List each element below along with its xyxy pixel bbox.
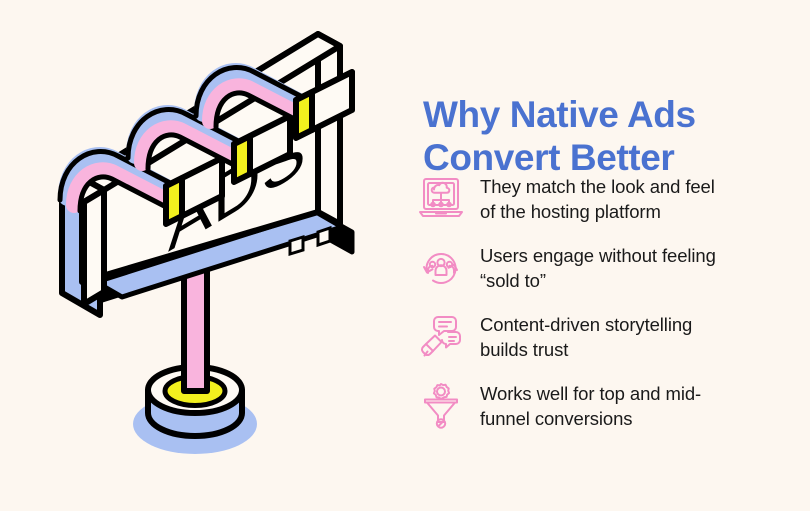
list-item-line-1: Content-driven storytelling <box>480 314 692 335</box>
list-item-line-2: of the hosting platform <box>480 201 661 222</box>
list-item-line-1: They match the look and feel <box>480 176 715 197</box>
left-frame-inner-face <box>84 190 104 304</box>
benefits-list: They match the look and feel of the host… <box>418 170 810 446</box>
laptop-cloud-network-icon <box>418 174 464 222</box>
list-item-line-2: builds trust <box>480 339 568 360</box>
list-item-line-2: funnel conversions <box>480 408 632 429</box>
list-item-line-2: “sold to” <box>480 270 546 291</box>
billboard-illustration: ADS <box>0 0 400 506</box>
list-item-line-1: Users engage without feeling <box>480 245 716 266</box>
list-item-text: They match the look and feel of the host… <box>480 170 810 224</box>
list-item: Users engage without feeling “sold to” <box>418 239 810 293</box>
billboard-svg: ADS <box>0 0 400 506</box>
list-item-text: Works well for top and mid- funnel conve… <box>480 377 810 431</box>
list-item-text: Users engage without feeling “sold to” <box>480 239 810 293</box>
users-engagement-cycle-icon <box>418 243 464 291</box>
list-item-line-1: Works well for top and mid- <box>480 383 701 404</box>
list-item: Works well for top and mid- funnel conve… <box>418 377 810 431</box>
infographic-poster: ADS <box>0 0 810 506</box>
funnel-gear-icon <box>418 381 464 429</box>
list-item-text: Content-driven storytelling builds trust <box>480 308 810 362</box>
rail-notch-1 <box>290 237 303 254</box>
list-item: They match the look and feel of the host… <box>418 170 810 224</box>
page-title: Why Native Ads Convert Better <box>423 93 803 179</box>
board-right-depth <box>318 34 340 224</box>
rail-notch-2 <box>318 228 330 245</box>
list-item: Content-driven storytelling builds trust <box>418 308 810 362</box>
megaphone-speech-bubbles-icon <box>418 312 464 360</box>
headline-line-1: Why Native Ads <box>423 93 803 136</box>
content-column: Why Native Ads Convert Better <box>418 0 810 506</box>
